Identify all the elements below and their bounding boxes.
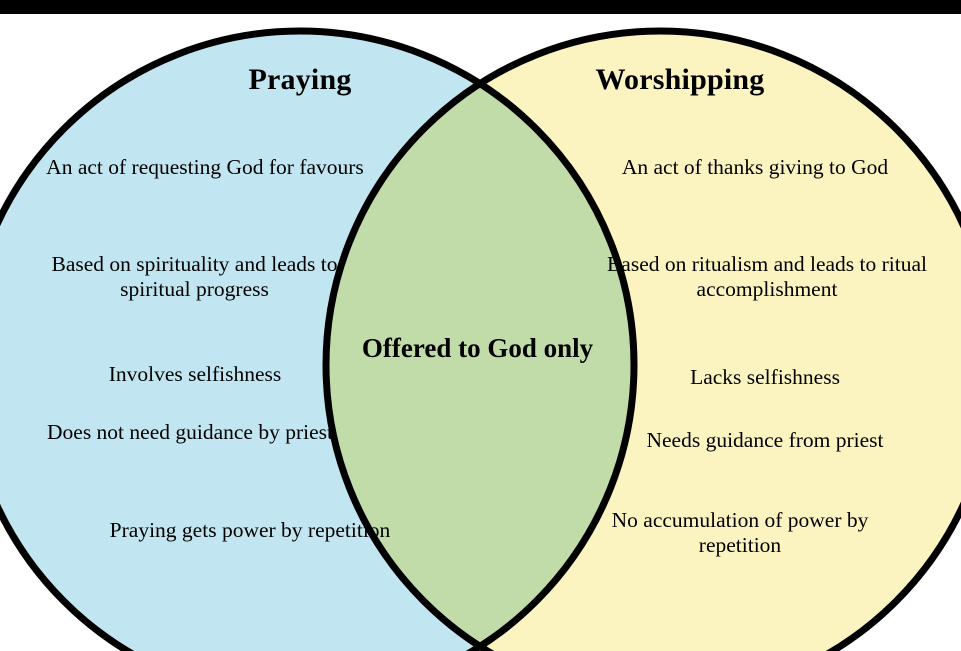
intersection-label: Offered to God only xyxy=(345,332,610,365)
worshipping-item-4: No accumulation of power by repetition xyxy=(575,508,905,559)
praying-item-1: Based on spirituality and leads to spiri… xyxy=(22,252,367,303)
worshipping-item-0: An act of thanks giving to God xyxy=(595,155,915,180)
worshipping-item-1: Based on ritualism and leads to ritual a… xyxy=(592,252,942,303)
praying-item-2: Involves selfishness xyxy=(40,362,350,387)
set-heading-praying: Praying xyxy=(175,62,425,97)
venn-diagram-canvas: Praying Worshipping An act of requesting… xyxy=(0,0,961,651)
praying-item-3: Does not need guidance by priest xyxy=(20,420,360,445)
praying-item-0: An act of requesting God for favours xyxy=(40,155,370,180)
worshipping-item-2: Lacks selfishness xyxy=(610,365,920,390)
venn-text-layer: Praying Worshipping An act of requesting… xyxy=(0,0,961,651)
praying-item-4: Praying gets power by repetition xyxy=(100,518,400,543)
set-heading-worshipping: Worshipping xyxy=(540,62,820,97)
worshipping-item-3: Needs guidance from priest xyxy=(590,428,940,453)
